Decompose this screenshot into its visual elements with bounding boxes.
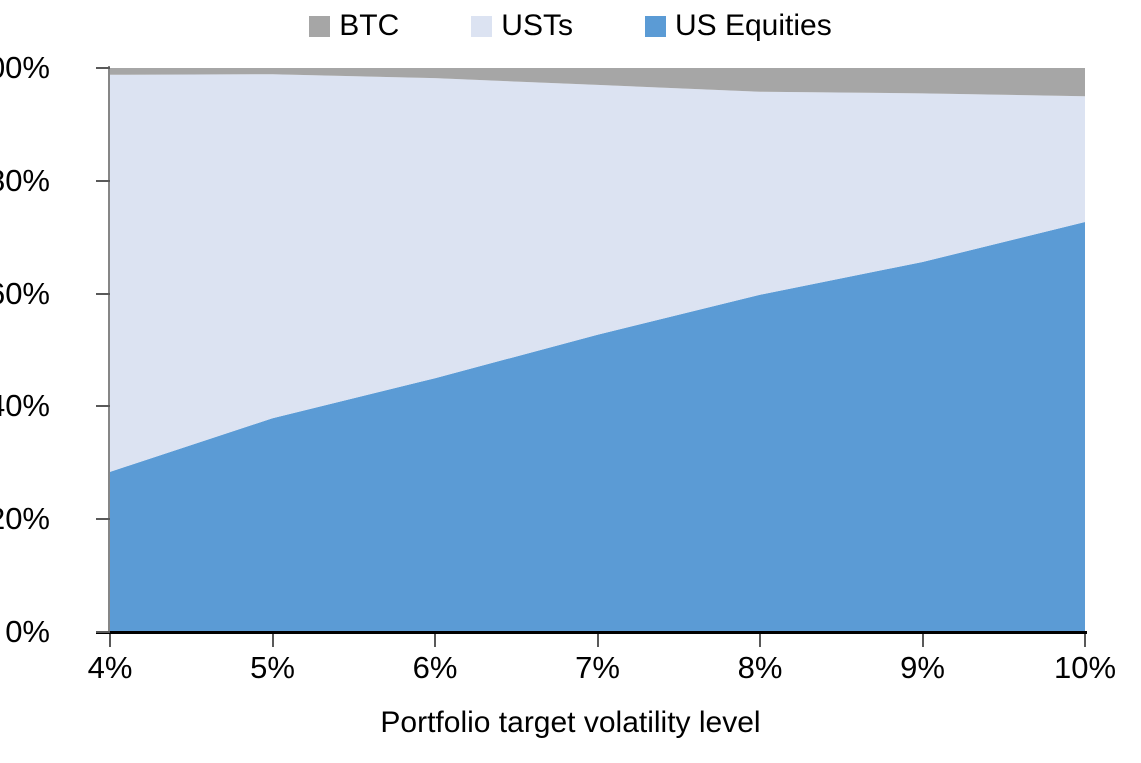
legend-label-usts: USTs bbox=[501, 11, 573, 41]
x-tick-label: 10% bbox=[1054, 652, 1116, 683]
area-series-svg bbox=[110, 68, 1085, 632]
y-tick-label: 80% bbox=[0, 165, 50, 196]
x-tick-mark bbox=[272, 634, 274, 647]
chart-legend: BTC USTs US Equities bbox=[0, 6, 1141, 46]
y-tick-label: 0% bbox=[5, 616, 50, 647]
legend-swatch-us-equities-icon bbox=[645, 16, 666, 37]
y-tick-mark bbox=[96, 180, 110, 182]
y-tick-label: 100% bbox=[0, 52, 50, 83]
legend-label-btc: BTC bbox=[339, 11, 399, 41]
y-tick-mark bbox=[96, 518, 110, 520]
x-tick-label: 6% bbox=[413, 652, 458, 683]
y-tick-mark bbox=[96, 405, 110, 407]
x-tick-mark bbox=[922, 634, 924, 647]
x-tick-mark bbox=[597, 634, 599, 647]
x-tick-mark bbox=[109, 634, 111, 647]
legend-swatch-btc-icon bbox=[309, 16, 330, 37]
y-axis-line bbox=[108, 66, 110, 634]
legend-entry-btc[interactable]: BTC bbox=[309, 11, 399, 41]
x-axis-line bbox=[96, 631, 1087, 634]
x-tick-label: 5% bbox=[250, 652, 295, 683]
y-tick-label: 60% bbox=[0, 278, 50, 309]
x-tick-mark bbox=[759, 634, 761, 647]
legend-swatch-usts-icon bbox=[471, 16, 492, 37]
x-tick-mark bbox=[434, 634, 436, 647]
stacked-area-chart: BTC USTs US Equities 0%20%40%60%80%100% … bbox=[0, 0, 1141, 763]
x-tick-label: 8% bbox=[738, 652, 783, 683]
x-tick-label: 9% bbox=[900, 652, 945, 683]
legend-entry-us-equities[interactable]: US Equities bbox=[645, 11, 832, 41]
plot-area bbox=[110, 68, 1085, 632]
y-tick-mark bbox=[96, 293, 110, 295]
legend-label-us-equities: US Equities bbox=[675, 11, 832, 41]
x-tick-label: 4% bbox=[88, 652, 133, 683]
y-tick-mark bbox=[96, 631, 110, 633]
y-tick-label: 40% bbox=[0, 390, 50, 421]
y-tick-mark bbox=[96, 67, 110, 69]
x-tick-mark bbox=[1084, 634, 1086, 647]
legend-entry-usts[interactable]: USTs bbox=[471, 11, 573, 41]
y-tick-label: 20% bbox=[0, 503, 50, 534]
x-axis-title: Portfolio target volatility level bbox=[0, 706, 1141, 740]
x-tick-label: 7% bbox=[575, 652, 620, 683]
